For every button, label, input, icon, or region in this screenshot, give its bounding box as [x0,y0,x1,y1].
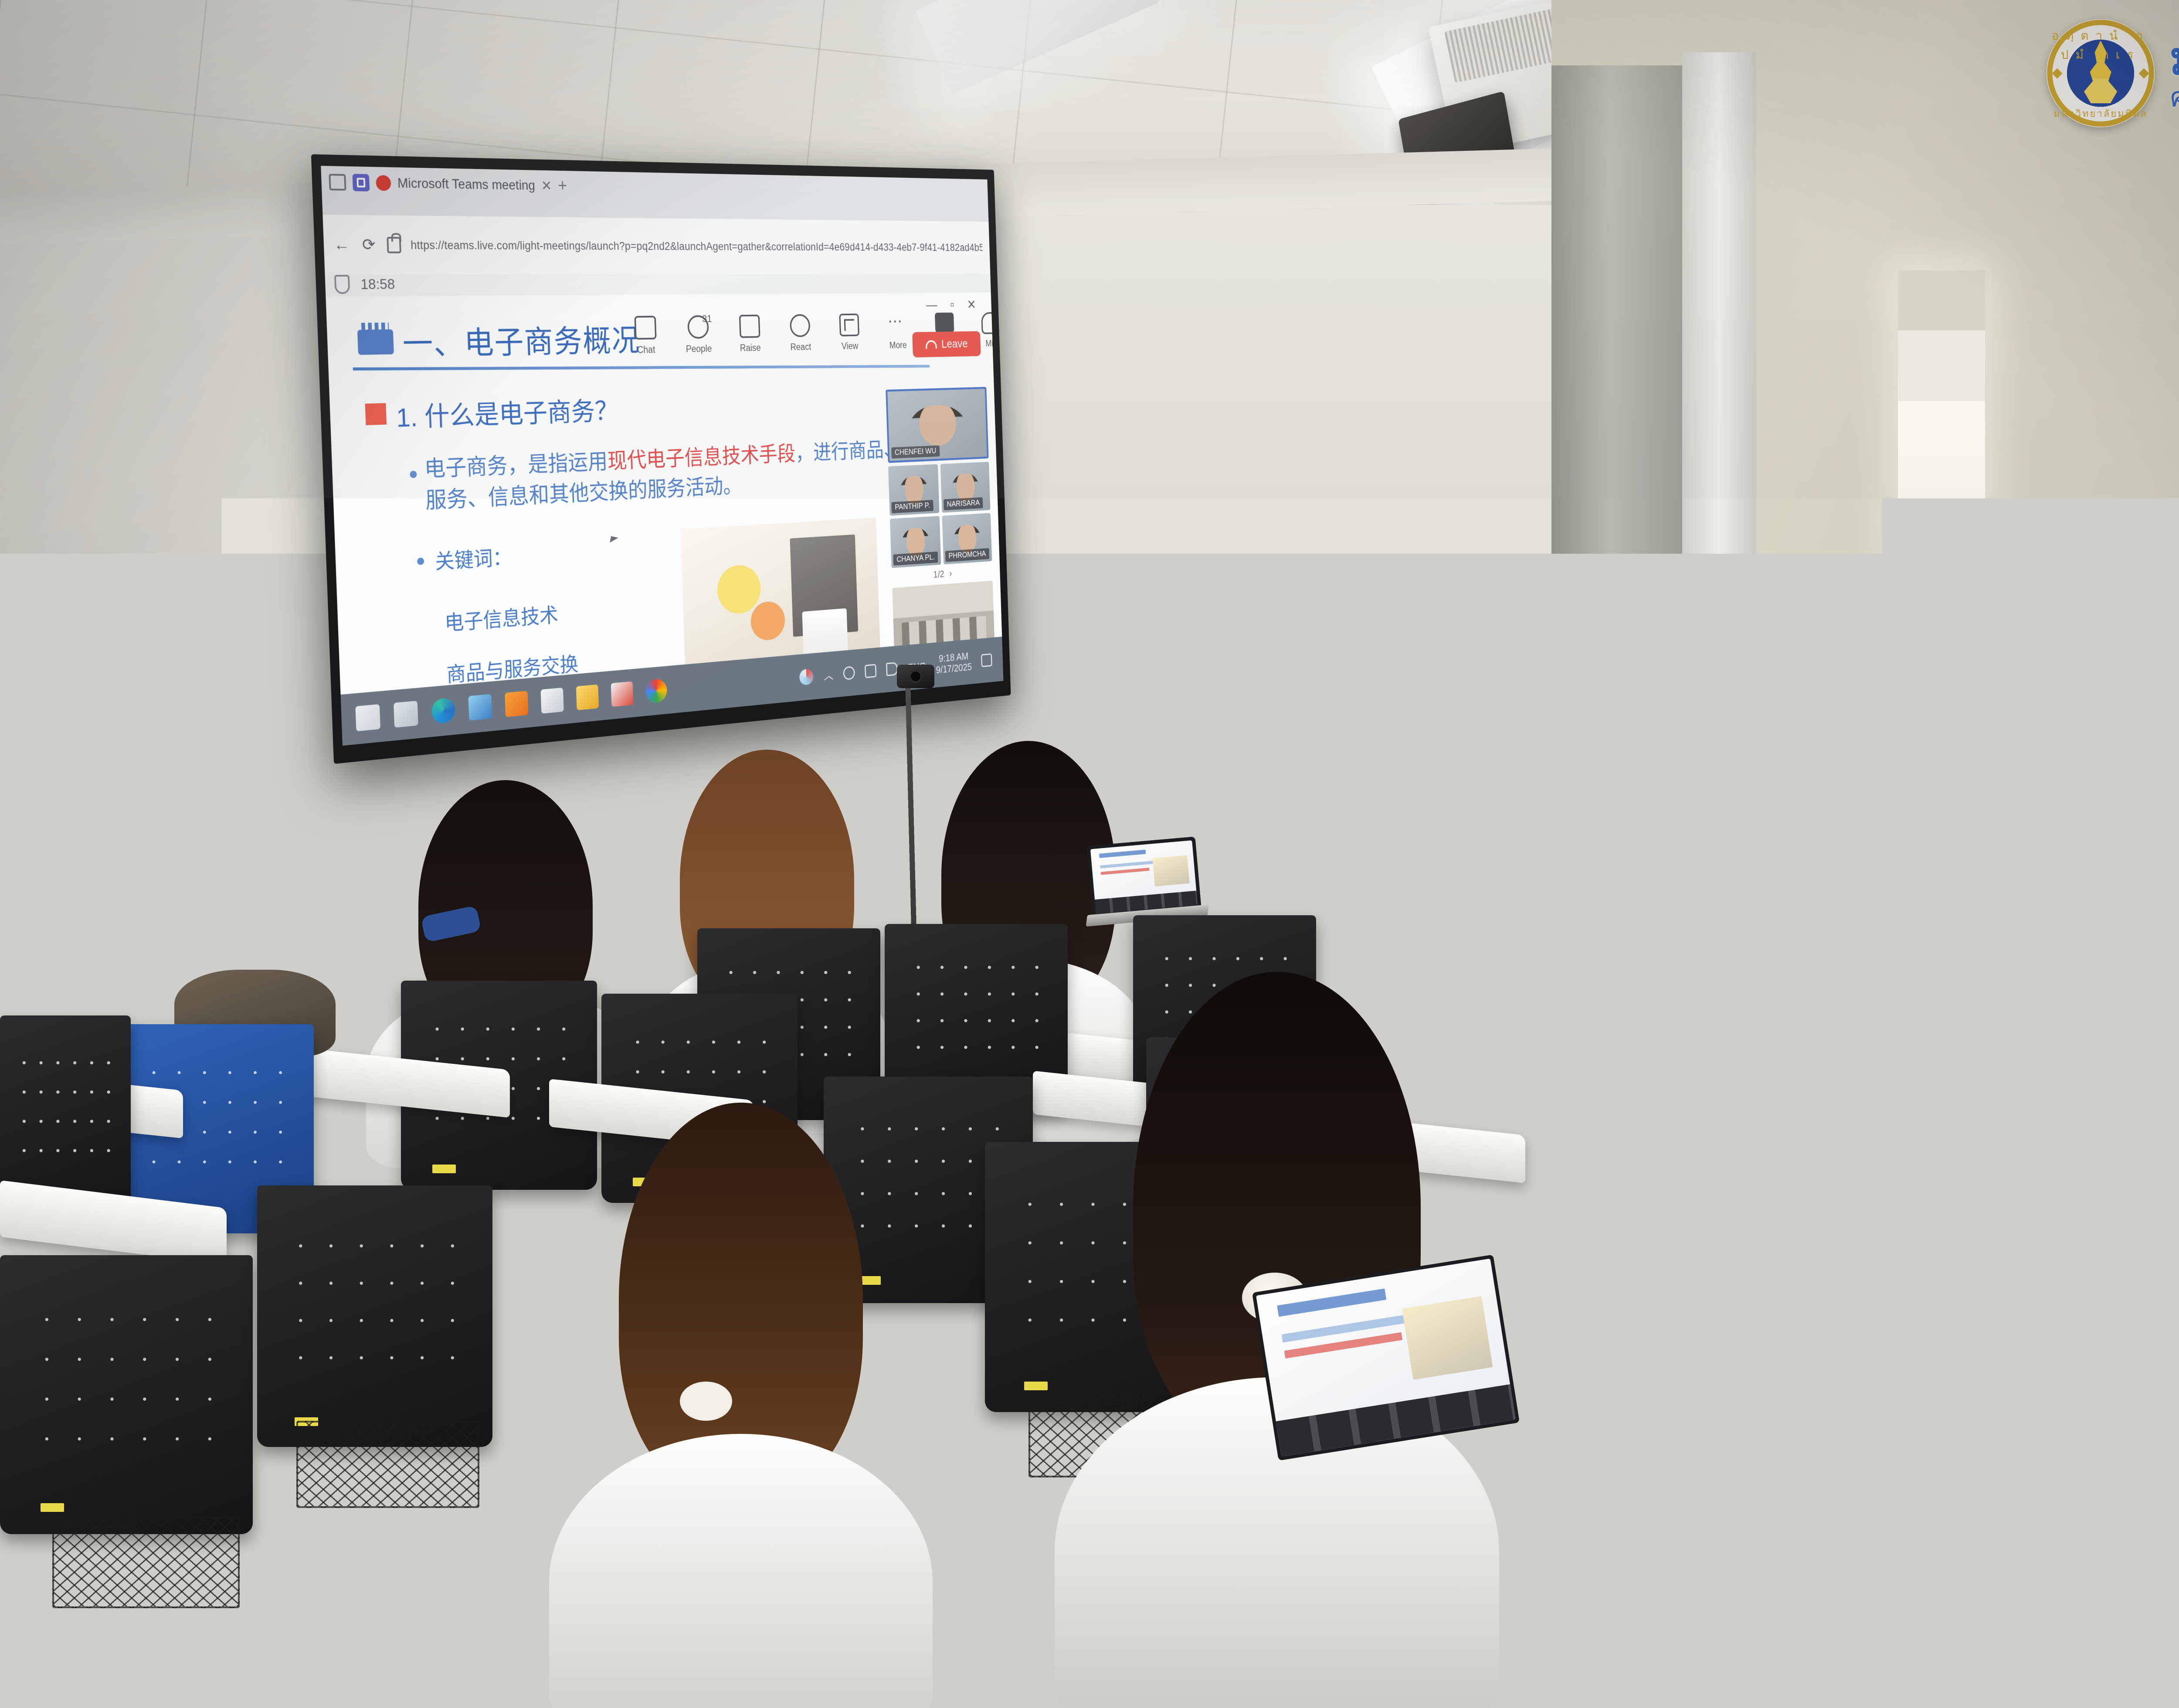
laptop-slide-image [1914,771,1941,794]
student-laptop [1762,876,1859,945]
participant-tile[interactable]: CHANYA PL. [890,516,941,568]
teams-mic-label: Mic [985,338,997,349]
maximize-icon[interactable]: ▫ [950,297,954,312]
laptop-screen [1766,880,1855,941]
slide-keywords-label: 关键词： [434,540,512,574]
laptop-screen [1645,716,1728,773]
tablet-slide-title [1751,1130,1847,1153]
teams-people-label: People [686,343,712,355]
student-foreground-right-2 [1918,1011,2179,1665]
participant-tile[interactable]: NARISARA [940,462,991,513]
student-shirt [1918,1377,2179,1691]
mouse-cursor-icon [610,536,618,544]
task-view-icon[interactable] [394,701,418,728]
lock-icon [387,237,401,254]
university-logo: อตฺตานํ อุปมํ กเร มหาวิทยาลัยมหิดล มหาวิ… [2047,19,2179,127]
slide-bullet-dot [417,557,424,565]
teams-people-button[interactable]: 31 People [682,315,715,355]
shield-icon [334,275,350,294]
student-laptop [1864,756,1950,817]
taskbar-clock[interactable]: 9:18 AM 9/17/2025 [936,651,972,676]
faculty-name: คณะศิลปศาสตร์ [2169,84,2179,111]
laptop-screen [1090,840,1198,914]
windows-start-icon[interactable] [355,704,380,731]
recording-indicator-icon [376,175,391,190]
roster-next-page-icon[interactable]: › [949,568,952,579]
tablet-screen [1734,1106,1958,1274]
student-right-cap [2092,723,2179,928]
slide-paragraph: 电子商务，是指运用现代电子信息技术手段，进行商品、服务、信息和其他交换的服务活动… [424,435,909,517]
laptop-slide-title [1651,722,1688,728]
seal-bottom-text: มหาวิทยาลัยมหิดล [2047,106,2155,121]
leave-meeting-button[interactable]: Leave [912,331,981,357]
slide-title-row: 一、电子商务概况 [357,316,641,365]
network-icon[interactable] [843,666,855,680]
teams-more-label: More [889,340,907,351]
active-speaker-tile[interactable]: CHENFEI WU [886,387,988,463]
edge-browser-icon[interactable] [431,697,455,724]
browser-tabstrip: Microsoft Teams meeting ✕ + [329,172,567,195]
teams-favicon [352,173,370,191]
more-ellipsis-icon [887,313,907,336]
tablet-slide-image [1860,1138,1938,1209]
teams-view-button[interactable]: View [834,313,865,352]
browser-tab-title[interactable]: Microsoft Teams meeting [397,175,535,193]
camera-icon [935,312,954,333]
laptop-slide-line [1653,735,1693,740]
chair-back [0,1255,253,1534]
chat-icon [634,316,656,340]
notice-line [1371,636,1406,640]
tab-close-icon[interactable]: ✕ [541,177,552,194]
water-bottle [1717,907,1743,989]
participant-name: NARISARA [944,497,983,510]
teams-react-button[interactable]: React [784,314,816,353]
laptop-slide-image [1818,893,1848,919]
chair-back [257,1185,492,1447]
participant-name: PHROMCHA [945,548,989,562]
show-hidden-icons-icon[interactable]: ︿ [823,667,833,683]
chair-label [1024,1382,1048,1390]
laptop-slide-title [1874,766,1909,771]
participant-name: PANTHIP P. [891,500,933,513]
student-hair [1642,819,1727,924]
onedrive-icon[interactable] [799,669,814,686]
seal-diamond-right [2139,68,2149,78]
react-icon [790,314,811,337]
tablet-slide-title [422,1460,543,1495]
reload-button-icon[interactable]: ⟳ [360,236,377,254]
hangup-icon [926,340,937,349]
projected-desktop: Microsoft Teams meeting ✕ + ← ⟳ https://… [321,166,1003,746]
roster-pager[interactable]: 1/2 › [892,566,992,584]
media-player-icon[interactable] [505,691,528,717]
student-shirt [2092,832,2179,946]
logo-text-block: มหาวิทยาลัยมหิดล คณะศิลปศาสตร์ [2169,36,2179,111]
chrome-browser-icon[interactable] [645,678,667,703]
notifications-icon[interactable] [981,653,992,667]
battery-icon[interactable] [865,664,876,678]
wall-column-right [1682,52,1756,793]
slide-paragraph-before: 电子商务，是指运用 [424,450,608,482]
teams-chat-label: Chat [637,344,655,356]
new-tab-icon[interactable]: + [558,177,567,195]
active-speaker-name: CHENFEI WU [891,445,940,458]
teams-view-label: View [842,341,859,352]
mahidol-seal-icon: อตฺตานํ อุปมํ กเร มหาวิทยาลัยมหิดล [2047,19,2155,127]
student-laptop [1641,712,1732,777]
window-blind-left [1898,270,1985,401]
back-button-icon[interactable]: ← [333,236,351,254]
under-seat-basket [52,1517,240,1608]
empty-chair [257,1185,492,1447]
chair-label [41,1503,64,1512]
address-bar-url[interactable]: https://teams.live.com/light-meetings/la… [411,238,983,253]
leave-label: Leave [941,337,968,351]
tablet-slide-image [561,1464,664,1559]
laptop-slide-title [1099,849,1146,858]
classroom-photo-scene: Microsoft Teams meeting ✕ + ← ⟳ https://… [0,0,2179,1708]
seal-diamond-left [2052,68,2063,78]
slide-keyword-0: 电子信息技术 [444,598,559,636]
browser-chrome: Microsoft Teams meeting ✕ + ← ⟳ https://… [321,166,990,275]
folder-icon[interactable] [576,684,599,710]
student-hair [1512,811,1599,920]
teams-prejoin-clock-row: 18:58 [334,275,395,294]
webcam [897,665,934,688]
view-grid-icon [839,313,859,336]
student-tablet-foreground-right [1730,1102,1962,1278]
volume-icon[interactable] [886,662,898,676]
participant-roster: CHENFEI WU PANTHIP P. NARISARA [886,387,995,677]
participant-tile[interactable]: PHROMCHA [942,513,992,564]
participant-tile-grid: PANTHIP P. NARISARA CHANYA PL. PHRO [888,462,992,568]
student-hair-tie [680,1382,732,1421]
notice-line [1371,664,1402,668]
slide-title: 一、电子商务概况 [402,316,641,364]
microsoft-store-icon[interactable] [468,694,492,720]
tab-overview-icon[interactable] [329,173,346,190]
close-icon[interactable]: ✕ [967,297,976,312]
raise-hand-icon [739,315,760,338]
laptop-slide-image [1153,855,1190,886]
meeting-clock: 18:58 [360,276,395,292]
acrobat-reader-icon[interactable] [611,681,634,707]
people-count-badge: 31 [702,313,712,325]
wall-notice-sign [1364,628,1421,686]
teams-raise-hand-button[interactable]: Raise [733,315,766,354]
shared-slide: 一、电子商务概况 1. 什么是电子商务？ 电子商务，是指运用现代电子信息技术手段… [326,292,1002,695]
minimize-icon[interactable]: — [926,297,938,312]
chair-label [432,1165,456,1173]
laptop-slide-title [1773,888,1812,895]
student-laptop-front-left [1086,836,1201,917]
instructor-glasses [1451,654,1500,665]
laptop-slide-image [1694,727,1722,752]
window-controls[interactable]: — ▫ ✕ [926,297,977,313]
roster-page-indicator: 1/2 [933,569,944,581]
mic-muted-icon [981,312,1000,334]
participant-tile[interactable]: PANTHIP P. [888,464,939,516]
laptop-screen [1867,760,1946,814]
student-mid-left-1 [1490,811,1621,1055]
teams-chat-button[interactable]: Chat [629,316,663,356]
tablet-slide-title [1277,1288,1386,1317]
student-shirt [1490,904,1621,1070]
teams-meeting-toolbar: — ▫ ✕ Chat 31 People [628,297,985,394]
teams-react-label: React [790,342,811,353]
browser-address-bar[interactable]: ← ⟳ https://teams.live.com/light-meeting… [322,215,990,275]
slide-heading: 1. 什么是电子商务？ [395,390,618,435]
laptop-slide-line [1100,867,1150,875]
teams-raise-label: Raise [740,343,761,354]
notice-line [1371,655,1397,659]
file-explorer-icon[interactable] [541,688,564,714]
empty-chair [0,1255,253,1534]
university-name: มหาวิทยาลัยมหิดล [2169,36,2179,81]
slide-bullet-dot [410,471,417,478]
participant-name: CHANYA PL. [893,551,938,565]
slide-paragraph-highlight: 现代电子信息技术手段 [607,442,796,474]
tablet-slide-image [1402,1296,1493,1379]
notice-line [1371,645,1411,649]
student-hair [1974,1011,2179,1438]
presentation-icon [357,329,394,355]
slide-square-bullet [365,403,387,425]
microphone-base [1285,761,1333,772]
teams-more-button[interactable]: More [882,313,913,351]
